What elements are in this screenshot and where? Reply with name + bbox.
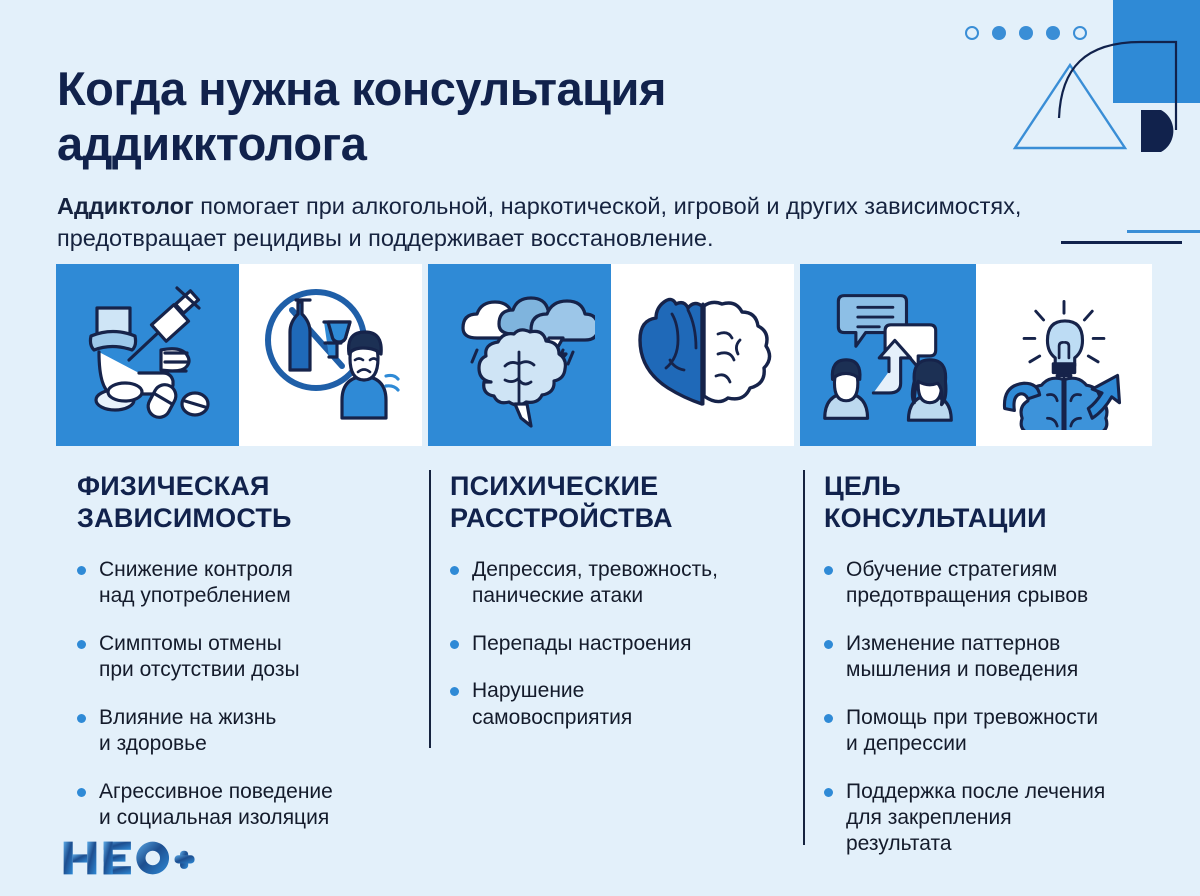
list-item: Помощь при тревожности и депрессии [824,705,1154,758]
logo-neo-plus [55,838,205,878]
column-heading: ФИЗИЧЕСКАЯ ЗАВИСИМОСТЬ [77,470,407,535]
tile-lightbulb-brain [976,264,1152,446]
column-heading: ЦЕЛЬ КОНСУЛЬТАЦИИ [824,470,1154,535]
list-item: Перепады настроения [450,631,780,657]
tile-no-alcohol-sad-person [239,264,422,446]
arm-syringe-pills-icon [73,280,223,430]
column-consultation-goal: ЦЕЛЬ КОНСУЛЬТАЦИИ Обучение стратегиям пр… [824,470,1154,879]
icon-group-mental [428,264,794,446]
list-item: Влияние на жизнь и здоровье [77,705,407,758]
list-item: Нарушение самовосприятия [450,678,780,731]
column-physical-dependence: ФИЗИЧЕСКАЯ ЗАВИСИМОСТЬ Снижение контроля… [77,470,407,852]
no-alcohol-sad-person-icon [256,280,406,430]
column-bullet-list: Депрессия, тревожность, панические атаки… [450,557,780,731]
column-mental-disorders: ПСИХИЧЕСКИЕ РАССТРОЙСТВА Депрессия, трев… [450,470,780,752]
column-bullet-list: Снижение контроля над употреблением Симп… [77,557,407,832]
list-item: Изменение паттернов мышления и поведения [824,631,1154,684]
list-item: Поддержка после лечения для закрепления … [824,779,1154,858]
heart-brain-halves-icon [628,280,778,430]
list-item: Агрессивное поведение и социальная изоля… [77,779,407,832]
column-heading: ПСИХИЧЕСКИЕ РАССТРОЙСТВА [450,470,780,535]
icon-tile-row [56,264,1152,446]
subtitle-rest: помогает при алкогольной, наркотической,… [57,193,1021,251]
list-item: Симптомы отмены при отсутствии дозы [77,631,407,684]
icon-group-goal [800,264,1152,446]
storm-cloud-brain-icon [445,280,595,430]
tile-storm-brain [428,264,611,446]
list-item: Обучение стратегиям предотвращения срыво… [824,557,1154,610]
decorative-quarter-circle [1141,110,1181,157]
dot-1-icon [965,26,979,40]
subtitle-emphasis: Аддиктолог [57,193,194,219]
icon-group-physical [56,264,422,446]
column-divider-1 [429,470,431,748]
decorative-line-blue [1127,230,1200,233]
tile-people-dialogue [800,264,976,446]
tile-heart-brain [611,264,794,446]
column-divider-2 [803,470,805,845]
dot-3-icon [1019,26,1033,40]
lightbulb-brain-arrows-icon [991,280,1137,430]
page-title: Когда нужна консультация аддикктолога [57,62,877,172]
infographic-page: Когда нужна консультация аддикктолога Ад… [0,0,1200,896]
people-speech-bubbles-arrow-icon [815,280,961,430]
column-bullet-list: Обучение стратегиям предотвращения срыво… [824,557,1154,858]
dot-2-icon [992,26,1006,40]
list-item: Депрессия, тревожность, панические атаки [450,557,780,610]
tile-arm-syringe-pills [56,264,239,446]
page-subtitle: Аддиктолог помогает при алкогольной, нар… [57,190,1117,254]
list-item: Снижение контроля над употреблением [77,557,407,610]
